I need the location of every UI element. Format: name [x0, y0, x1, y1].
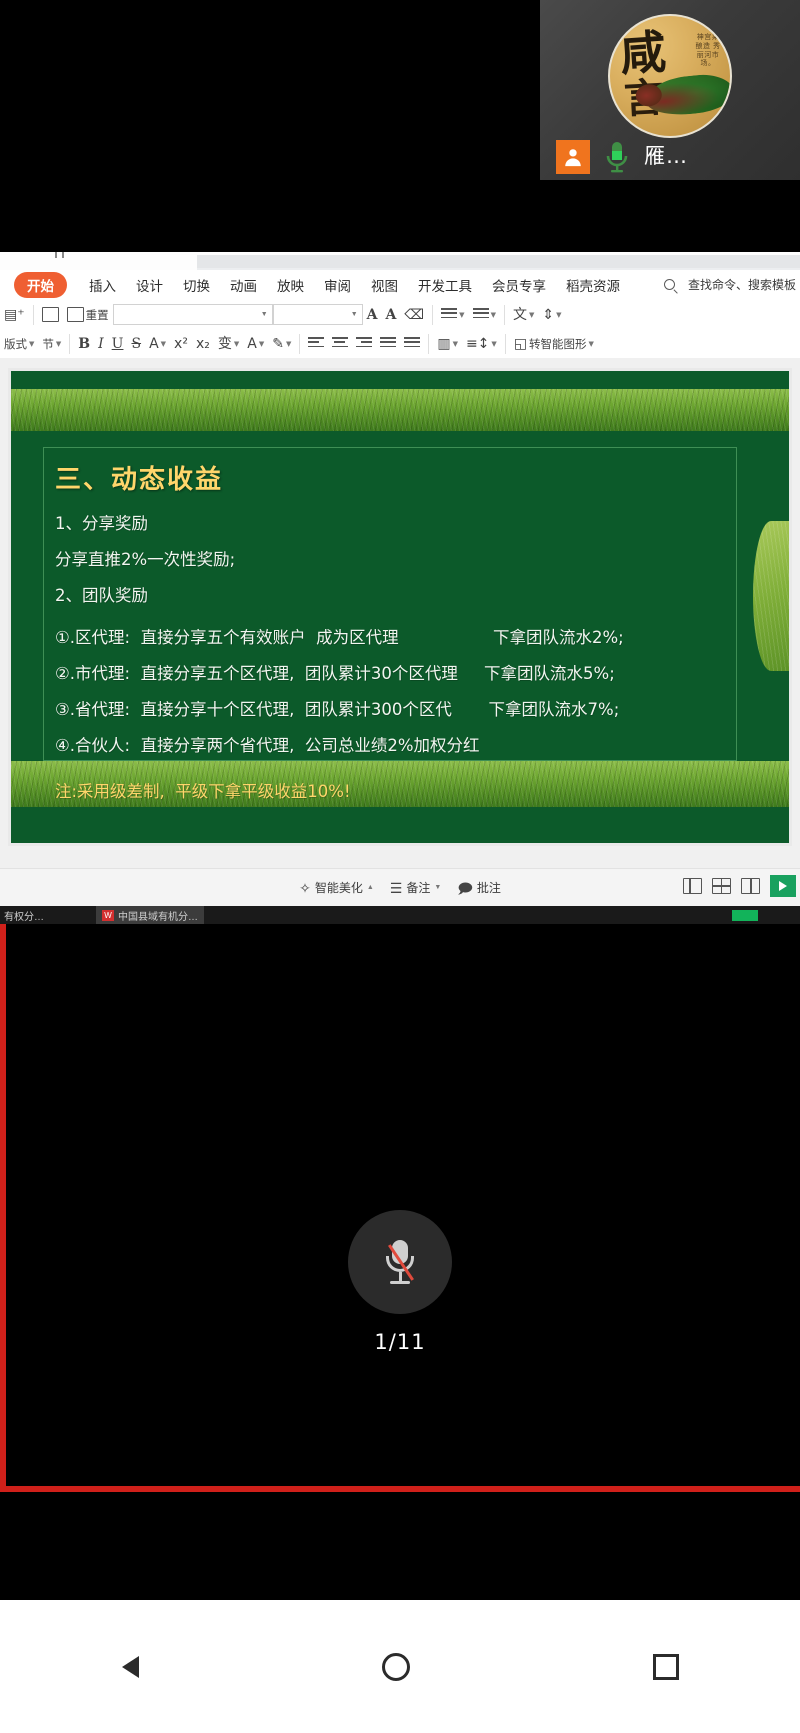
toolbar-row-2: 版式 ▼ 节 ▼ B I U S: [0, 329, 800, 358]
microphone-muted-icon: [383, 1238, 417, 1286]
avatar-char-primary: 咸: [619, 30, 668, 77]
doc-tab-stub-2[interactable]: [62, 252, 64, 258]
change-case-button[interactable]: 变 ▼: [214, 332, 243, 356]
reset-icon: [67, 307, 84, 322]
notes-label: 备注: [406, 879, 430, 896]
reading-view-icon[interactable]: [741, 878, 760, 894]
slide-line-1: 1、分享奖励: [55, 510, 765, 534]
shrink-font-button[interactable]: A: [382, 303, 401, 327]
shrink-font-icon: A: [386, 307, 397, 323]
align-text-icon: ⇕: [542, 308, 554, 322]
taskbar-strip: 有权分… W 中国县域有机分…: [0, 906, 800, 924]
ribbon-tab-bar: 开始 插入 设计 切换 动画 放映 审阅 视图 开发工具 会员专享 稻壳资源 查…: [0, 270, 800, 300]
chevron-down-icon: ▼: [491, 340, 496, 348]
chevron-down-icon: ▼: [529, 311, 534, 319]
superscript-button[interactable]: x²: [170, 332, 192, 356]
layout-button[interactable]: 版式 ▼: [0, 332, 38, 356]
chevron-down-icon: ▼: [351, 311, 358, 318]
chevron-down-icon: ▼: [459, 311, 464, 319]
reset-button[interactable]: 重置: [63, 303, 113, 327]
bullets-button[interactable]: ▼: [437, 303, 468, 327]
highlight-icon: ✎: [272, 337, 284, 351]
chevron-down-icon: ▼: [434, 884, 441, 891]
tab-docer-resources[interactable]: 稻壳资源: [566, 275, 620, 295]
bold-icon: B: [78, 336, 90, 352]
align-left-icon: [308, 337, 324, 350]
wheat-banner-top: [11, 389, 789, 431]
comments-label: 批注: [477, 879, 501, 896]
chevron-down-icon: ▼: [161, 340, 166, 348]
chevron-down-icon: ▼: [453, 340, 458, 348]
comment-icon: 🗩: [457, 881, 473, 895]
slide-line-3: 2、团队奖励: [55, 582, 765, 606]
chevron-down-icon: ▼: [556, 311, 561, 319]
text-shadow-icon: A: [149, 337, 159, 351]
columns-icon: ▥: [437, 337, 450, 351]
doc-tab-stub-1[interactable]: [55, 252, 57, 258]
page-indicator: 1/11: [374, 1330, 425, 1354]
align-justify-button[interactable]: [376, 332, 400, 356]
toolbar-separator: [504, 305, 505, 325]
tile-status-bar: 雁…: [540, 136, 800, 180]
line-spacing-button[interactable]: ≡↕ ▼: [462, 332, 501, 356]
wps-logo-icon: W: [102, 910, 114, 921]
avatar-side-text: 神宫果酿造 秀丽河市场。: [694, 34, 722, 69]
new-slide-button[interactable]: ▤⁺: [0, 303, 29, 327]
notes-icon: ☰: [390, 881, 403, 895]
superscript-icon: x²: [174, 337, 188, 351]
font-name-combo[interactable]: ▼: [113, 304, 273, 325]
change-case-icon: 变: [218, 337, 232, 351]
red-border-bottom: [0, 1486, 800, 1492]
search-label: 查找命令、搜索模板: [688, 276, 796, 293]
line-spacing-icon: ≡↕: [466, 337, 489, 351]
chevron-down-icon: ▼: [286, 340, 291, 348]
convert-smartart-button[interactable]: ◱ 转智能图形 ▼: [510, 332, 598, 356]
align-text-button[interactable]: ⇕ ▼: [538, 303, 565, 327]
normal-view-icon[interactable]: [683, 878, 702, 894]
slide-line-2: 分享直推2%一次性奖励;: [55, 546, 765, 570]
screen-share-area: 咸 言 神宫果酿造 秀丽河市场。 雁…: [0, 0, 800, 252]
toolbar-separator: [69, 334, 70, 354]
align-right-icon: [356, 337, 372, 350]
align-distribute-icon: [404, 337, 420, 350]
person-icon[interactable]: [556, 140, 590, 174]
font-color-button[interactable]: A ▼: [243, 332, 268, 356]
microphone-muted-button[interactable]: [348, 1210, 452, 1314]
font-color-icon: A: [247, 337, 257, 351]
clear-format-icon: ⌫: [404, 308, 424, 322]
slide-text-body[interactable]: 三、动态收益 1、分享奖励 分享直推2%一次性奖励; 2、团队奖励 ①.区代理:…: [55, 459, 765, 814]
align-left-button[interactable]: [304, 332, 328, 356]
tab-transitions[interactable]: 切换: [183, 275, 210, 295]
align-distribute-button[interactable]: [400, 332, 424, 356]
tab-developer[interactable]: 开发工具: [418, 275, 472, 295]
formatting-toolbar: ▤⁺ 重置 ▼ ▼ A: [0, 300, 800, 358]
chevron-down-icon: ▼: [56, 340, 61, 348]
wps-status-bar: ✧ 智能美化 ▲ ☰ 备注 ▼ 🗩 批注: [0, 868, 800, 906]
subscript-icon: x₂: [196, 337, 210, 351]
toolbar-separator: [299, 334, 300, 354]
font-size-combo[interactable]: ▼: [273, 304, 363, 325]
ribbon-search[interactable]: 查找命令、搜索模板: [664, 276, 796, 293]
toolbar-separator: [33, 305, 34, 325]
smart-beautify-button[interactable]: ✧ 智能美化 ▲: [299, 879, 374, 896]
tab-view[interactable]: 视图: [371, 275, 398, 295]
chevron-down-icon: ▼: [234, 340, 239, 348]
title-bar-strip: [197, 255, 800, 268]
strikethrough-icon: S: [131, 336, 141, 352]
reset-label: 重置: [86, 307, 109, 323]
align-justify-icon: [380, 337, 396, 350]
layout-icon: [42, 307, 59, 322]
toolbar-separator: [432, 305, 433, 325]
section-button[interactable]: 节 ▼: [38, 332, 65, 356]
new-slide-icon: ▤⁺: [4, 308, 25, 322]
strikethrough-button[interactable]: S: [127, 332, 145, 356]
chevron-down-icon: ▼: [261, 311, 268, 318]
screen-root: 咸 言 神宫果酿造 秀丽河市场。 雁…: [0, 0, 800, 1733]
subscript-button[interactable]: x₂: [192, 332, 214, 356]
highlight-button[interactable]: ✎ ▼: [268, 332, 295, 356]
smartart-icon: ◱: [514, 337, 527, 351]
slide[interactable]: 三、动态收益 1、分享奖励 分享直推2%一次性奖励; 2、团队奖励 ①.区代理:…: [8, 368, 792, 846]
tab-insert[interactable]: 插入: [89, 275, 116, 295]
text-direction-button[interactable]: 文 ▼: [509, 303, 538, 327]
text-shadow-button[interactable]: A ▼: [145, 332, 170, 356]
toolbar-row-1: ▤⁺ 重置 ▼ ▼ A: [0, 300, 800, 329]
align-center-icon: [332, 337, 348, 350]
avatar: 咸 言 神宫果酿造 秀丽河市场。: [608, 14, 732, 138]
tab-design[interactable]: 设计: [136, 275, 163, 295]
taskbar-item-right[interactable]: W 中国县域有机分…: [96, 906, 204, 924]
home-icon[interactable]: [382, 1653, 410, 1681]
numbering-button[interactable]: ▼: [469, 303, 500, 327]
numbering-icon: [473, 308, 489, 321]
beautify-icon: ✧: [299, 881, 311, 895]
text-direction-icon: 文: [513, 308, 527, 322]
layout-gallery-button[interactable]: [38, 303, 63, 327]
underline-icon: U: [112, 336, 124, 352]
grow-font-icon: A: [367, 307, 378, 323]
video-participant-tile[interactable]: 咸 言 神宫果酿造 秀丽河市场。 雁…: [540, 0, 800, 180]
comments-button[interactable]: 🗩 批注: [457, 879, 501, 896]
chevron-up-icon: ▲: [367, 884, 374, 891]
align-center-button[interactable]: [328, 332, 352, 356]
slide-sorter-icon[interactable]: [712, 878, 731, 894]
columns-button[interactable]: ▥ ▼: [433, 332, 462, 356]
wps-presentation-window: 开始 插入 设计 切换 动画 放映 审阅 视图 开发工具 会员专享 稻壳资源 查…: [0, 252, 800, 924]
meeting-control-area: 1/11: [0, 924, 800, 1602]
slide-line-partner: ④.合伙人: 直接分享两个省代理, 公司总业绩2%加权分红: [55, 732, 765, 756]
clear-format-button[interactable]: ⌫: [400, 303, 428, 327]
align-right-button[interactable]: [352, 332, 376, 356]
underline-button[interactable]: U: [108, 332, 128, 356]
slide-line-agent-city: ②.市代理: 直接分享五个区代理, 团队累计30个区代理 下拿团队流水5%;: [55, 660, 765, 684]
tab-review[interactable]: 审阅: [324, 275, 351, 295]
slide-note: 注:采用级差制, 平级下拿平级收益10%!: [55, 778, 765, 802]
view-controls: [683, 875, 796, 897]
smartart-label: 转智能图形: [529, 336, 587, 352]
taskbar-green-indicator: [732, 910, 758, 921]
bold-button[interactable]: B: [74, 332, 94, 356]
chevron-down-icon: ▼: [589, 340, 594, 348]
beautify-label: 智能美化: [315, 879, 363, 896]
notes-button[interactable]: ☰ 备注 ▼: [390, 879, 442, 896]
tab-animations[interactable]: 动画: [230, 275, 257, 295]
slide-line-agent-district: ①.区代理: 直接分享五个有效账户 成为区代理 下拿团队流水2%;: [55, 624, 765, 648]
italic-button[interactable]: I: [94, 332, 108, 356]
chevron-down-icon: ▼: [29, 340, 34, 348]
android-navigation-bar: [0, 1600, 800, 1733]
tab-member-exclusive[interactable]: 会员专享: [492, 275, 546, 295]
italic-icon: I: [98, 336, 104, 352]
search-icon: [664, 279, 675, 290]
toolbar-separator: [505, 334, 506, 354]
red-border-left: [0, 924, 6, 1492]
chevron-down-icon: ▼: [259, 340, 264, 348]
slide-title: 三、动态收益: [55, 459, 765, 496]
back-icon[interactable]: [122, 1656, 139, 1678]
chevron-down-icon: ▼: [491, 311, 496, 319]
tab-home[interactable]: 开始: [14, 272, 67, 298]
recents-icon[interactable]: [653, 1654, 679, 1680]
layout-label: 版式: [4, 336, 27, 352]
section-label: 节: [42, 336, 54, 352]
window-top-edge: [0, 252, 800, 270]
tab-slideshow[interactable]: 放映: [277, 275, 304, 295]
slide-canvas-area[interactable]: 三、动态收益 1、分享奖励 分享直推2%一次性奖励; 2、团队奖励 ①.区代理:…: [0, 358, 800, 868]
toolbar-separator: [428, 334, 429, 354]
participant-name: 雁…: [644, 140, 688, 170]
grow-font-button[interactable]: A: [363, 303, 382, 327]
taskbar-item-left[interactable]: 有权分…: [4, 906, 44, 924]
play-icon[interactable]: [770, 875, 796, 897]
microphone-icon[interactable]: [602, 140, 632, 174]
taskbar-item-right-label: 中国县域有机分…: [118, 908, 198, 923]
slide-line-agent-province: ③.省代理: 直接分享十个区代理, 团队累计300个区代 下拿团队流水7%;: [55, 696, 765, 720]
bullets-icon: [441, 308, 457, 321]
